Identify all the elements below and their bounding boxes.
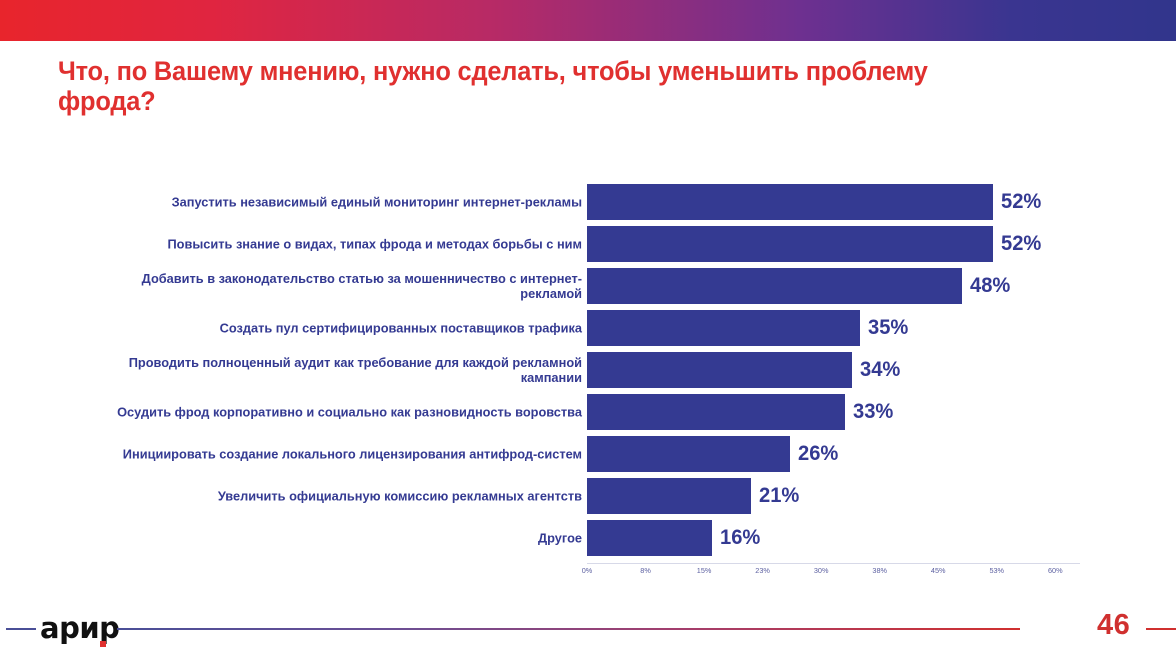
footer: арир 46 <box>0 597 1176 661</box>
bar-value-label: 34% <box>860 358 900 382</box>
axis-tick-label: 60% <box>1048 566 1063 575</box>
bar-group: 33% <box>587 394 895 430</box>
axis-tick-label: 38% <box>872 566 887 575</box>
bar <box>587 394 845 430</box>
bar-value-label: 48% <box>970 274 1010 298</box>
bar-group: 16% <box>587 520 762 556</box>
axis-tick-label: 8% <box>640 566 651 575</box>
category-label: Добавить в законодательство статью за мо… <box>97 271 582 301</box>
bar-group: 52% <box>587 226 1043 262</box>
category-label: Повысить знание о видах, типах фрода и м… <box>97 237 582 252</box>
bar <box>587 310 860 346</box>
axis-tick-label: 23% <box>755 566 770 575</box>
category-label: Осудить фрод корпоративно и социально ка… <box>97 405 582 420</box>
footer-rule-left <box>6 628 36 630</box>
bar-value-label: 21% <box>759 484 799 508</box>
bar-value-label: 35% <box>868 316 908 340</box>
category-label: Создать пул сертифицированных поставщико… <box>97 321 582 336</box>
bar-value-label: 33% <box>853 400 893 424</box>
bar <box>587 184 993 220</box>
page-title: Что, по Вашему мнению, нужно сделать, чт… <box>58 56 1007 116</box>
bar <box>587 436 790 472</box>
x-axis-ticks: 0%8%15%23%30%38%45%53%60% <box>0 566 1176 582</box>
page-number: 46 <box>1097 609 1130 642</box>
bar <box>587 268 962 304</box>
chart-row: Инициировать создание локального лицензи… <box>0 436 1176 472</box>
axis-tick-label: 30% <box>814 566 829 575</box>
bar-value-label: 26% <box>798 442 838 466</box>
arir-logo: арир <box>40 611 119 645</box>
footer-rule-gradient <box>117 628 1020 630</box>
chart-row: Осудить фрод корпоративно и социально ка… <box>0 394 1176 430</box>
axis-tick-label: 53% <box>989 566 1004 575</box>
x-axis-line <box>587 563 1080 564</box>
header-gradient-band <box>0 0 1176 41</box>
category-label: Запустить независимый единый мониторинг … <box>97 195 582 210</box>
chart-row: Другое16% <box>0 520 1176 556</box>
category-label: Инициировать создание локального лицензи… <box>97 447 582 462</box>
bar-value-label: 16% <box>720 526 760 550</box>
chart-row: Повысить знание о видах, типах фрода и м… <box>0 226 1176 262</box>
chart-row: Увеличить официальную комиссию рекламных… <box>0 478 1176 514</box>
chart-row: Добавить в законодательство статью за мо… <box>0 268 1176 304</box>
bar-group: 21% <box>587 478 801 514</box>
bar-value-label: 52% <box>1001 190 1041 214</box>
bar <box>587 478 751 514</box>
category-label: Другое <box>97 531 582 546</box>
category-label: Увеличить официальную комиссию рекламных… <box>97 489 582 504</box>
bar <box>587 520 712 556</box>
bar-value-label: 52% <box>1001 232 1041 256</box>
bar-group: 52% <box>587 184 1043 220</box>
bar-group: 48% <box>587 268 1012 304</box>
bar-group: 26% <box>587 436 840 472</box>
axis-tick-label: 0% <box>582 566 593 575</box>
axis-tick-label: 45% <box>931 566 946 575</box>
logo-dot-icon <box>100 641 106 647</box>
category-label: Проводить полноценный аудит как требован… <box>97 355 582 385</box>
bar <box>587 226 993 262</box>
bar <box>587 352 852 388</box>
bar-group: 34% <box>587 352 902 388</box>
bar-chart: Запустить независимый единый мониторинг … <box>0 175 1176 585</box>
bar-group: 35% <box>587 310 910 346</box>
axis-tick-label: 15% <box>697 566 712 575</box>
footer-rule-right <box>1146 628 1176 630</box>
chart-row: Создать пул сертифицированных поставщико… <box>0 310 1176 346</box>
chart-row: Проводить полноценный аудит как требован… <box>0 352 1176 388</box>
chart-row: Запустить независимый единый мониторинг … <box>0 184 1176 220</box>
